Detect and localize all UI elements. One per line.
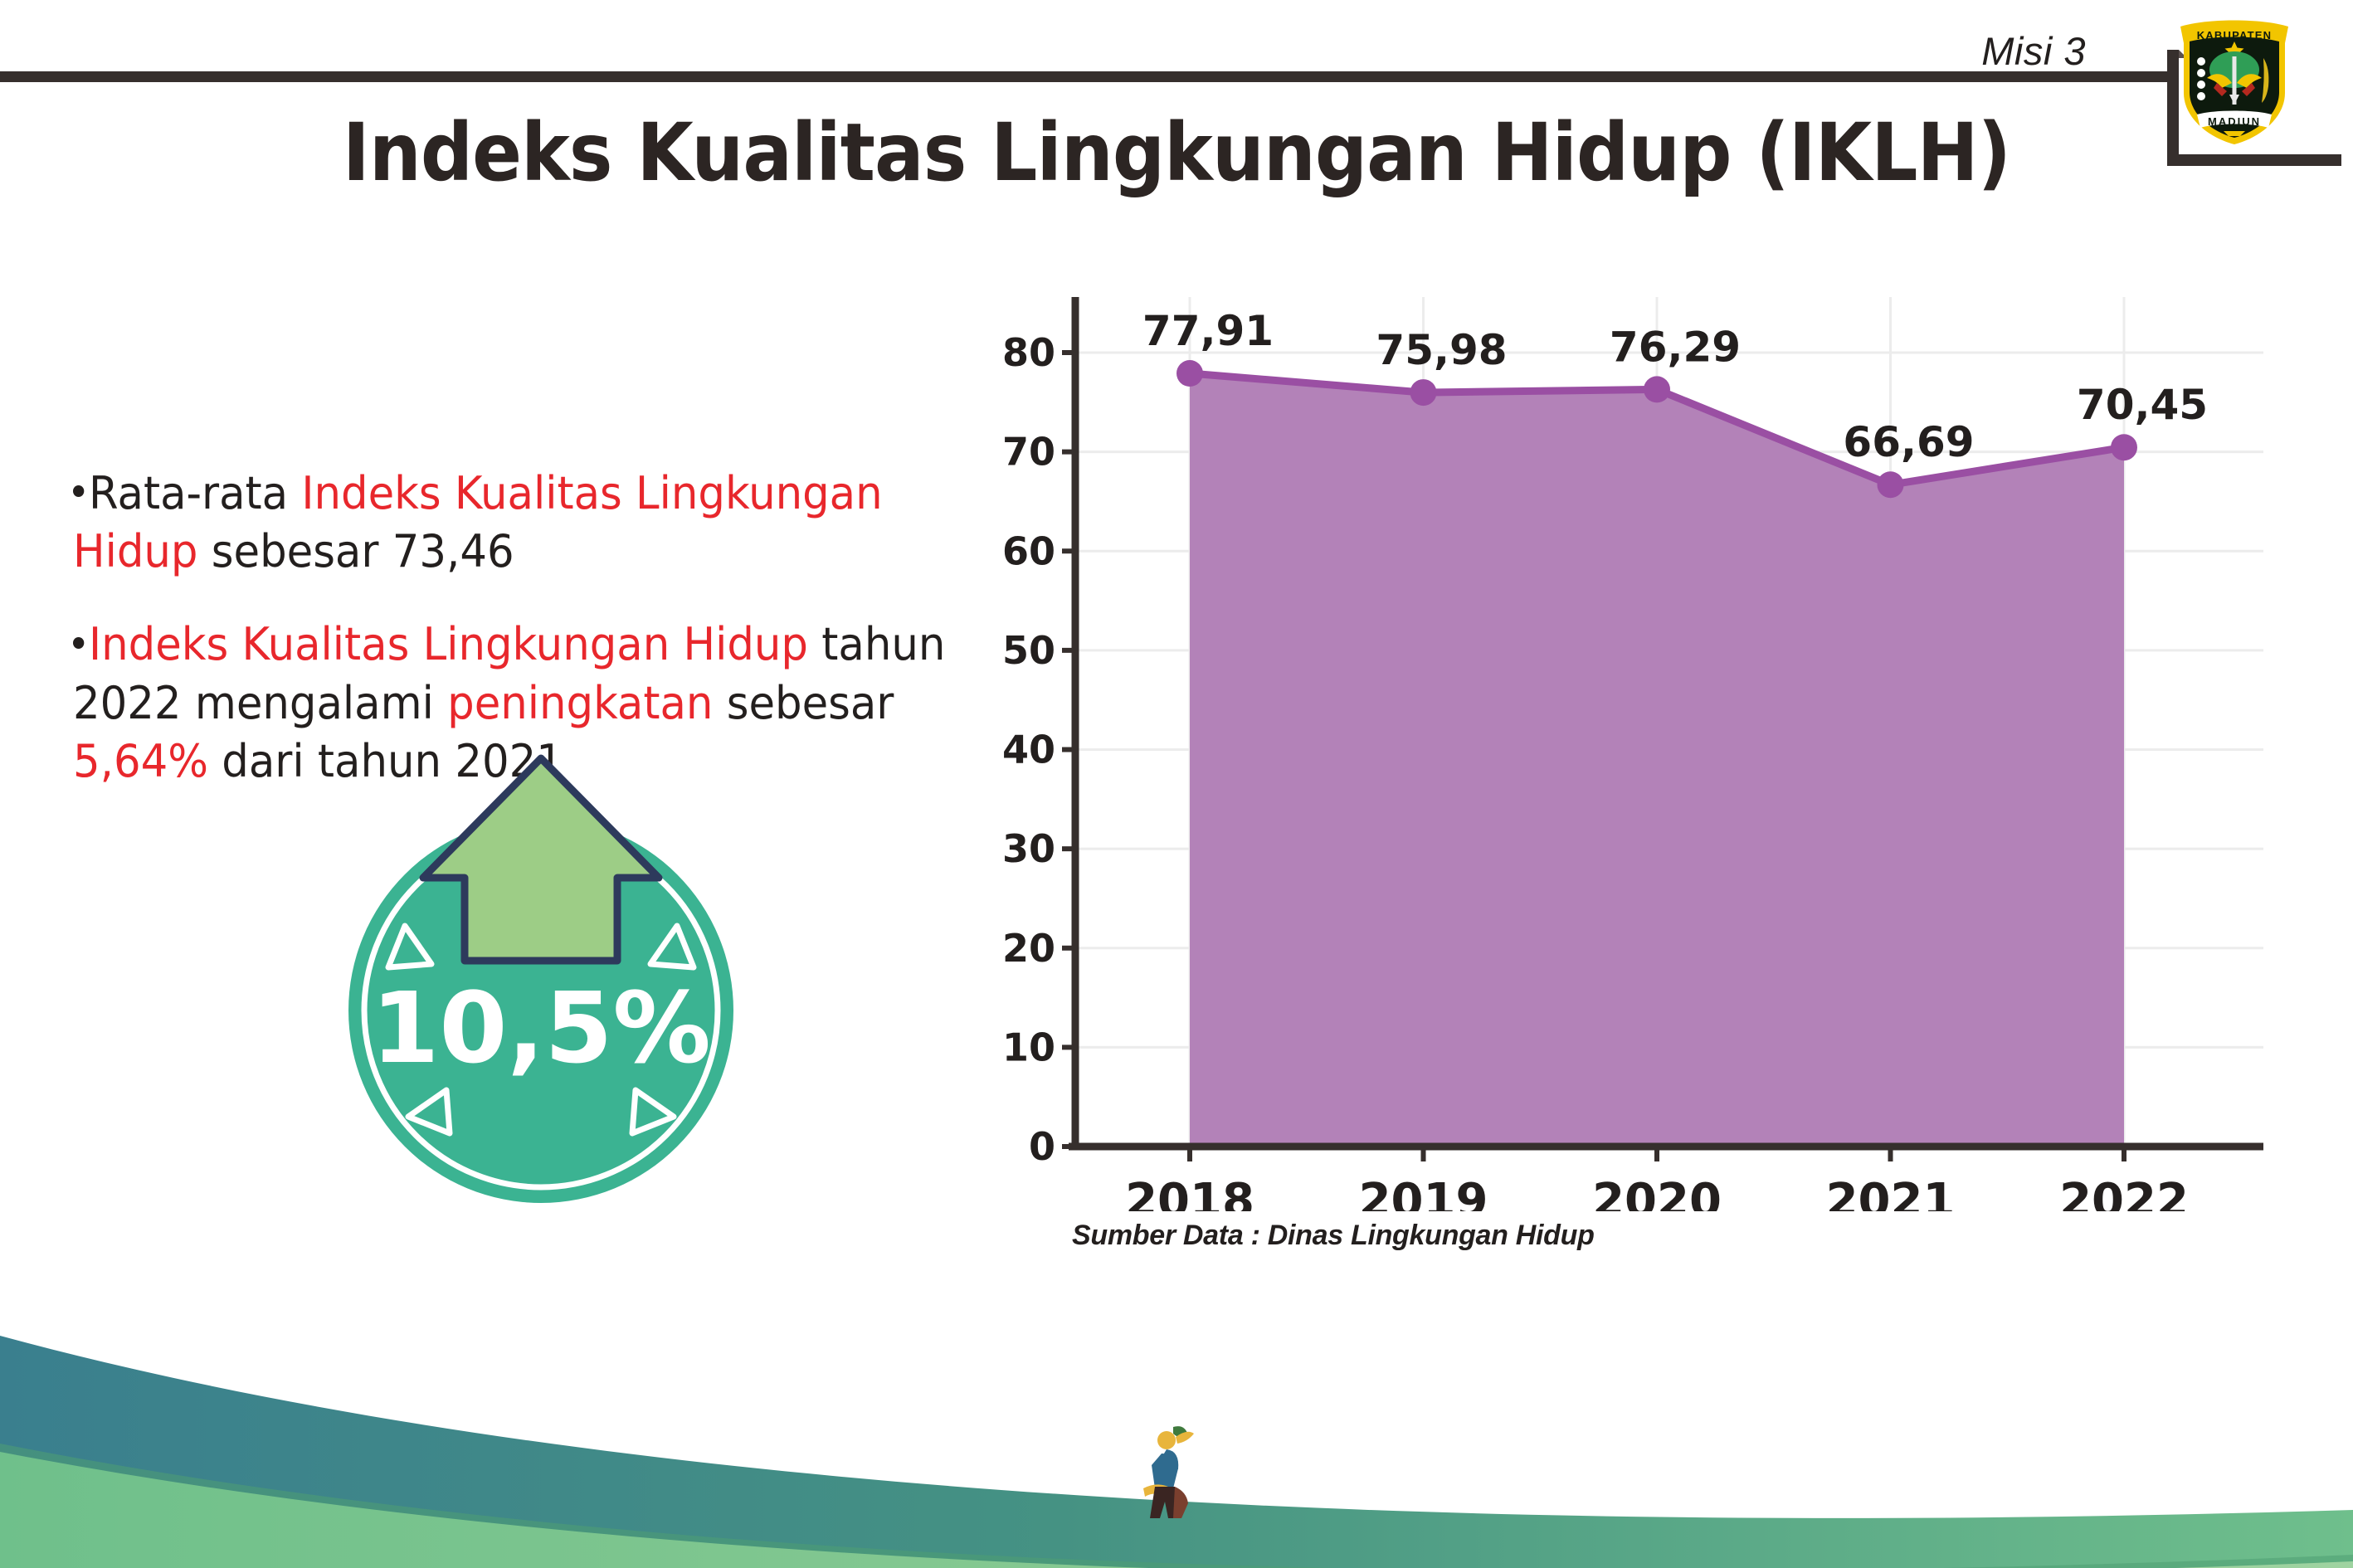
data-label: 77,91 bbox=[1142, 307, 1274, 355]
data-point bbox=[1176, 360, 1203, 387]
x-tick-label: 2020 bbox=[1592, 1174, 1722, 1211]
y-tick-label: 40 bbox=[1002, 728, 1055, 772]
y-tick-label: 60 bbox=[1002, 528, 1055, 573]
x-tick-label: 2021 bbox=[1826, 1174, 1956, 1211]
chart-series-area bbox=[1176, 360, 2137, 1147]
data-point bbox=[2111, 434, 2137, 460]
bullet-0-part-0: Rata-rata bbox=[89, 467, 301, 519]
badge-value: 10,5% bbox=[371, 971, 710, 1085]
y-tick-label: 80 bbox=[1002, 330, 1055, 375]
bullet-1-part-0: Indeks Kualitas Lingkungan Hidup bbox=[89, 618, 808, 670]
page-title: Indeks Kualitas Lingkungan Hidup (IKLH) bbox=[94, 106, 2258, 199]
data-point bbox=[1878, 471, 1904, 498]
y-tick-label: 10 bbox=[1002, 1025, 1055, 1069]
statistics-person-icon bbox=[1137, 1422, 1208, 1520]
list-item: Rata-rata Indeks Kualitas Lingkungan Hid… bbox=[73, 465, 948, 581]
y-tick-label: 0 bbox=[1029, 1124, 1055, 1169]
data-label: 75,98 bbox=[1376, 326, 1507, 374]
bullet-0-part-2: sebesar 73,46 bbox=[197, 525, 514, 577]
bullet-dot bbox=[73, 485, 84, 497]
area-fill bbox=[1190, 373, 2124, 1147]
y-tick-label: 50 bbox=[1002, 628, 1055, 673]
bullet-dot bbox=[73, 637, 84, 649]
chart-source-note: Sumber Data : Dinas Lingkungan Hidup bbox=[1072, 1220, 1595, 1252]
data-point bbox=[1410, 379, 1437, 406]
bullet-1-part-4: 5,64% bbox=[73, 735, 208, 787]
y-tick-label: 70 bbox=[1002, 430, 1055, 475]
bullet-1-part-3: sebesar bbox=[713, 677, 894, 729]
x-tick-label: 2018 bbox=[1125, 1174, 1254, 1211]
svg-text:KABUPATEN: KABUPATEN bbox=[2197, 29, 2272, 41]
x-tick-labels: 20182019202020212022 bbox=[1125, 1147, 2189, 1211]
data-label: 70,45 bbox=[2077, 381, 2208, 429]
iklh-area-chart: 01020304050607080 20182019202020212022 7… bbox=[979, 274, 2273, 1211]
misi-label: Misi 3 bbox=[1981, 28, 2086, 74]
y-tick-label: 20 bbox=[1002, 926, 1055, 971]
y-tick-labels: 01020304050607080 bbox=[1002, 330, 1075, 1169]
data-point bbox=[1644, 376, 1670, 402]
x-tick-label: 2022 bbox=[2059, 1174, 2189, 1211]
x-tick-label: 2019 bbox=[1359, 1174, 1488, 1211]
increase-badge: 10,5% bbox=[325, 747, 757, 1211]
data-label: 66,69 bbox=[1843, 418, 1974, 466]
y-tick-label: 30 bbox=[1002, 826, 1055, 871]
header-divider bbox=[0, 71, 2169, 82]
data-label: 76,29 bbox=[1610, 323, 1741, 371]
bullet-1-part-2: peningkatan bbox=[447, 677, 713, 729]
